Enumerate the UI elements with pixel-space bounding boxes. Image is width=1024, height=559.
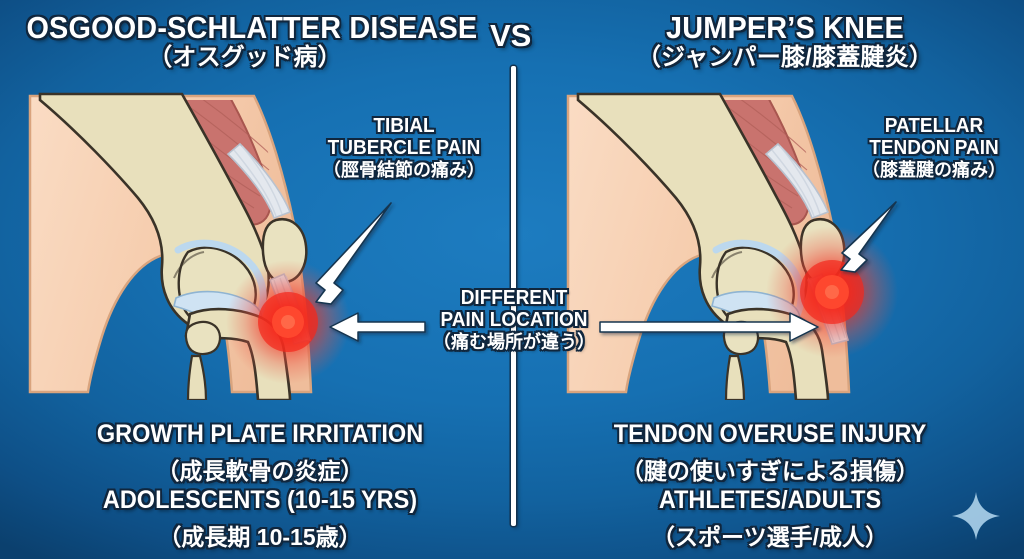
left-footer-jp-2: （成長期 10-15歳） [30,518,490,552]
center-en-line1: DIFFERENT [404,288,624,310]
infographic-canvas: OSGOOD-SCHLATTER DISEASE （オスグッド病） VS JUM… [0,0,1024,559]
left-footer-en-1: GROWTH PLATE IRRITATION [44,420,476,449]
center-en-line2: PAIN LOCATION [404,310,624,332]
left-callout-label: TIBIAL TUBERCLE PAIN （脛骨結節の痛み） [292,116,516,181]
center-jp: （痛む場所が違う） [398,333,630,352]
sparkle-icon [948,488,1004,549]
left-title-block: OSGOOD-SCHLATTER DISEASE （オスグッド病） [10,12,480,70]
left-footer-en-2: ADOLESCENTS (10-15 YRS) [44,486,476,515]
right-footer-en-1: TENDON OVERUSE INJURY [554,420,986,449]
right-footer-jp-1: （腱の使いすぎによる損傷） [540,452,1000,486]
right-footer-block-2: ATHLETES/ADULTS （スポーツ選手/成人） [540,486,1000,552]
left-callout-en-line2: TUBERCLE PAIN [298,138,511,160]
right-footer-block-1: TENDON OVERUSE INJURY （腱の使いすぎによる損傷） [540,420,1000,486]
left-footer-block-1: GROWTH PLATE IRRITATION （成長軟骨の炎症） [30,420,490,486]
right-footer-jp-2: （スポーツ選手/成人） [540,518,1000,552]
left-callout-jp: （脛骨結節の痛み） [292,161,516,180]
right-callout-en-line2: TENDON PAIN [847,138,1022,160]
left-title-jp: （オスグッド病） [10,46,480,70]
left-footer-jp-1: （成長軟骨の炎症） [30,452,490,486]
right-title-en: JUMPER’S KNEE [571,12,999,43]
pain-glow-patellar-tendon [766,226,898,358]
right-callout-jp: （膝蓋腱の痛み） [842,161,1024,180]
left-callout-en-line1: TIBIAL [298,116,511,138]
right-title-block: JUMPER’S KNEE （ジャンパー膝/膝蓋腱炎） [555,12,1015,70]
center-pain-location-label: DIFFERENT PAIN LOCATION （痛む場所が違う） [398,288,630,353]
right-callout-en-line1: PATELLAR [847,116,1022,138]
right-footer-en-2: ATHLETES/ADULTS [554,486,986,515]
left-footer-block-2: ADOLESCENTS (10-15 YRS) （成長期 10-15歳） [30,486,490,552]
vs-label: VS [490,18,531,54]
left-title-en: OSGOOD-SCHLATTER DISEASE [26,12,463,43]
right-callout-label: PATELLAR TENDON PAIN （膝蓋腱の痛み） [842,116,1024,181]
right-title-jp: （ジャンパー膝/膝蓋腱炎） [555,46,1015,70]
pain-glow-tibial-tubercle [226,260,350,384]
